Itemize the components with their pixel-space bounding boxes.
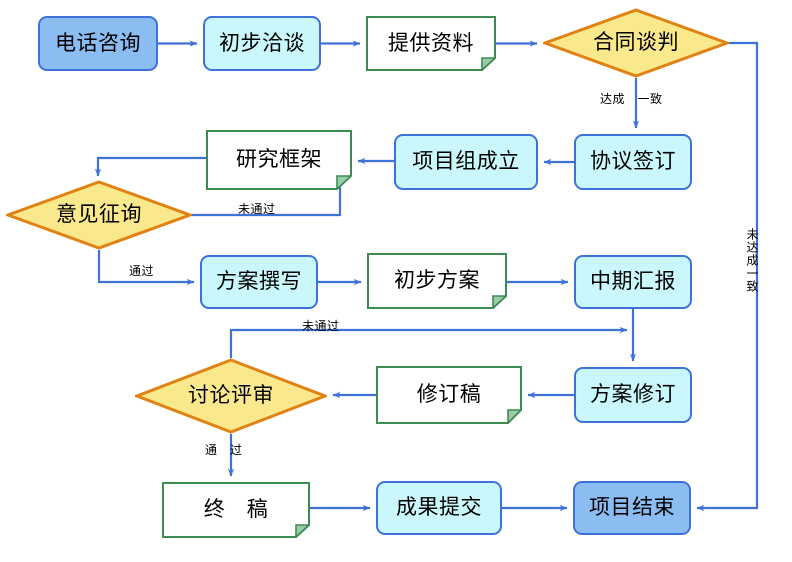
node-agreement-signing[interactable]: 协议签订: [574, 134, 692, 190]
node-label: 讨论评审: [188, 384, 274, 407]
edge-label-review-passed: 通 过: [205, 441, 243, 458]
node-label: 成果提交: [396, 496, 482, 519]
node-preliminary-proposal[interactable]: 初步方案: [367, 253, 507, 309]
node-research-framework[interactable]: 研究框架: [206, 130, 352, 190]
node-label: 项目结束: [589, 496, 675, 519]
node-label: 提供资料: [388, 32, 474, 55]
node-proposal-writing[interactable]: 方案撰写: [200, 255, 318, 309]
node-preliminary-talk[interactable]: 初步洽谈: [203, 16, 321, 71]
node-mid-term-report[interactable]: 中期汇报: [574, 255, 692, 309]
node-label: 项目组成立: [412, 150, 520, 173]
node-label: 方案修订: [590, 383, 676, 406]
edge-label-opinion-passed: 通过: [129, 262, 154, 279]
node-label: 初步方案: [394, 269, 480, 292]
node-label: 终 稿: [204, 498, 269, 521]
edge-label-agreement-reached: 达成 一致: [600, 90, 663, 107]
node-revised-draft[interactable]: 修订稿: [376, 366, 522, 424]
node-contract-negotiation[interactable]: 合同谈判: [543, 8, 729, 78]
node-label: 合同谈判: [593, 31, 679, 54]
edge-framework-to-opinion: [98, 158, 206, 176]
node-label: 研究框架: [236, 148, 322, 171]
node-label: 意见征询: [56, 203, 142, 226]
node-label: 电话咨询: [55, 32, 141, 55]
node-project-end[interactable]: 项目结束: [573, 481, 691, 535]
edge-label-review-failed: 未通过: [302, 317, 340, 334]
flowchart-canvas: 电话咨询 初步洽谈 提供资料 合同谈判 协议签订 项目组成立 研究框架 意见征询: [0, 0, 792, 562]
node-label: 修订稿: [417, 383, 482, 406]
edge-label-opinion-failed: 未通过: [238, 200, 276, 217]
node-label: 中期汇报: [590, 270, 676, 293]
node-label: 方案撰写: [216, 270, 302, 293]
node-final-draft[interactable]: 终 稿: [162, 482, 310, 538]
node-provide-material[interactable]: 提供资料: [366, 16, 496, 71]
node-team-formation[interactable]: 项目组成立: [394, 134, 538, 190]
node-opinion-consultation[interactable]: 意见征询: [6, 180, 192, 250]
edge-review-fail-loop: [231, 330, 627, 358]
node-label: 初步洽谈: [219, 32, 305, 55]
node-result-submission[interactable]: 成果提交: [376, 481, 502, 535]
node-phone-consult[interactable]: 电话咨询: [38, 16, 158, 71]
edge-label-no-agreement: 未达成一致: [744, 228, 761, 293]
node-discussion-review[interactable]: 讨论评审: [135, 358, 327, 434]
node-label: 协议签订: [590, 150, 676, 173]
node-proposal-revision[interactable]: 方案修订: [574, 367, 692, 423]
